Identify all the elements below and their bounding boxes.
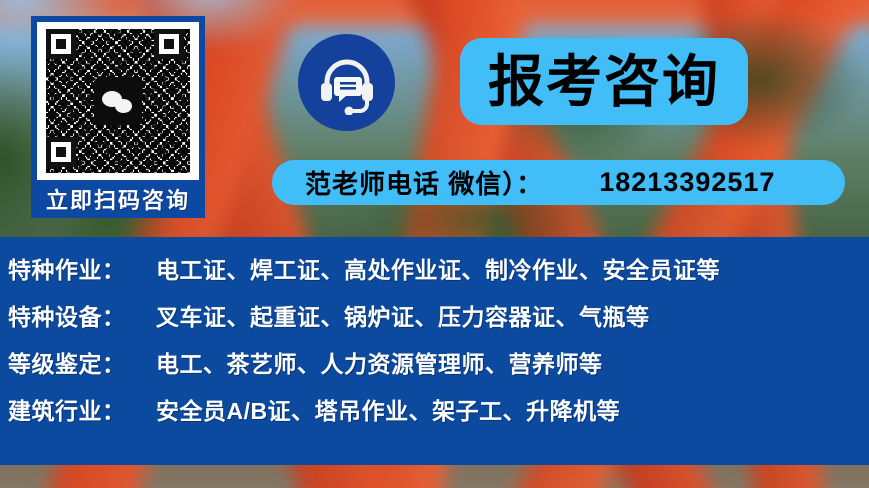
qr-finder-top-right (154, 29, 184, 59)
promo-poster: 立即扫码咨询 报考咨询 范老师电话 微信）： 18213392517 特种作业：… (0, 0, 869, 488)
course-items: 叉车证、起重证、锅炉证、压力容器证、气瓶等 (156, 298, 650, 332)
course-list-panel: 特种作业： 电工证、焊工证、高处作业证、制冷作业、安全员证等 特种设备： 叉车证… (0, 237, 869, 465)
course-row: 特种设备： 叉车证、起重证、锅炉证、压力容器证、气瓶等 (8, 295, 650, 335)
course-items: 电工、茶艺师、人力资源管理师、营养师等 (156, 345, 603, 379)
phone-banner[interactable]: 范老师电话 微信）： 18213392517 (272, 160, 845, 205)
course-row: 特种作业： 电工证、焊工证、高处作业证、制冷作业、安全员证等 (8, 248, 720, 288)
course-items: 安全员A/B证、塔吊作业、架子工、升降机等 (156, 392, 620, 426)
wechat-icon (94, 77, 142, 125)
course-category-label: 特种作业： (8, 251, 156, 285)
qr-code-image[interactable] (37, 22, 199, 180)
title-banner: 报考咨询 (460, 38, 748, 125)
course-row: 等级鉴定： 电工、茶艺师、人力资源管理师、营养师等 (8, 342, 603, 382)
course-category-label: 特种设备： (8, 298, 156, 332)
title-banner-text: 报考咨询 (488, 54, 720, 110)
wechat-bubble-small (115, 99, 132, 113)
qr-finder-top-left (46, 29, 76, 59)
qr-code-card[interactable]: 立即扫码咨询 (31, 16, 205, 218)
phone-number[interactable]: 18213392517 (599, 167, 775, 198)
qr-finder-bottom-left (46, 137, 76, 167)
course-row: 建筑行业： 安全员A/B证、塔吊作业、架子工、升降机等 (8, 389, 620, 429)
course-items: 电工证、焊工证、高处作业证、制冷作业、安全员证等 (156, 251, 720, 285)
headset-chat-icon (298, 34, 395, 131)
qr-card-label: 立即扫码咨询 (31, 183, 205, 215)
course-category-label: 等级鉴定： (8, 345, 156, 379)
phone-banner-label: 范老师电话 微信）： (305, 164, 543, 201)
course-category-label: 建筑行业： (8, 392, 156, 426)
